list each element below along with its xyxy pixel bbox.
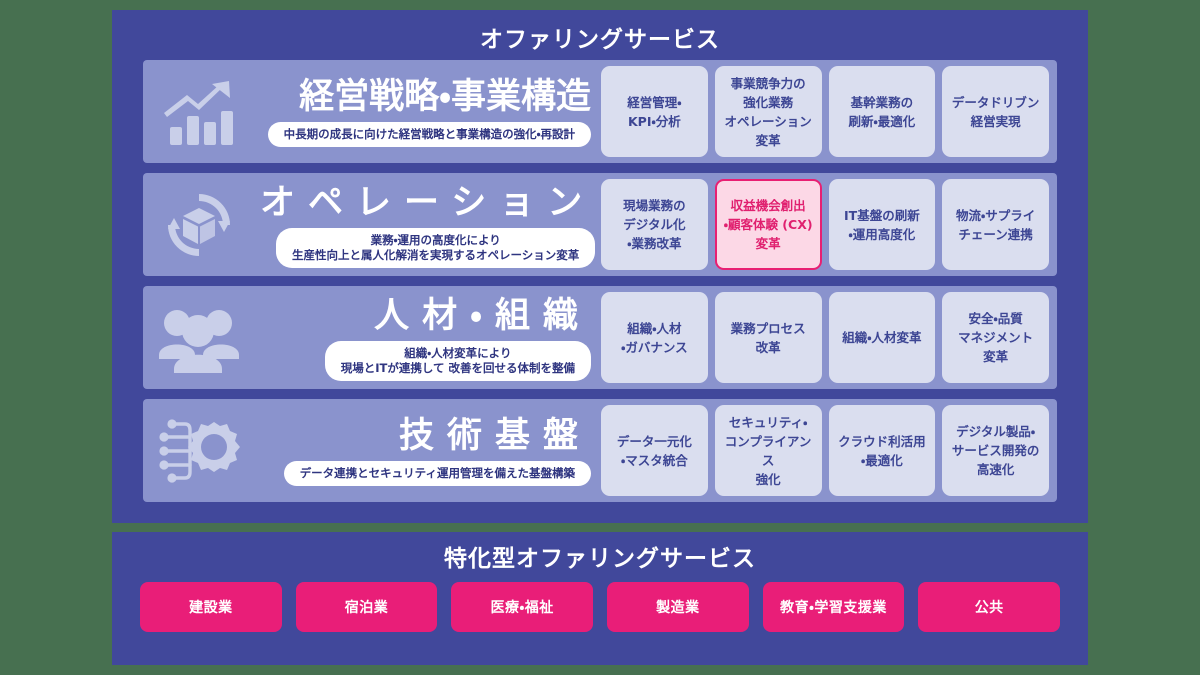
industry-tag[interactable]: 宿泊業 bbox=[296, 582, 438, 632]
offering-card[interactable]: データ一元化 ・マスタ統合 bbox=[601, 405, 708, 496]
offering-row-list: 経営戦略・事業構造 中長期の成長に向けた経営戦略と事業構造の強化・再設計 経営管… bbox=[143, 60, 1057, 502]
row-hero-text: 人材・組織 組織・人材変革により 現場とITが連携して 改善を回せる体制を整備 bbox=[247, 295, 595, 381]
row-card-list: データ一元化 ・マスタ統合 セキュリティ・ コンプライアンス 強化 クラウド利活… bbox=[601, 405, 1049, 496]
industry-tag[interactable]: 教育・学習支援業 bbox=[763, 582, 905, 632]
offering-card[interactable]: デジタル製品・ サービス開発の 高速化 bbox=[942, 405, 1049, 496]
industry-tag[interactable]: 公共 bbox=[918, 582, 1060, 632]
offering-card[interactable]: 安全・品質 マネジメント 変革 bbox=[942, 292, 1049, 383]
growth-chart-icon bbox=[151, 75, 247, 149]
offering-card[interactable]: セキュリティ・ コンプライアンス 強化 bbox=[715, 405, 822, 496]
industry-tag[interactable]: 医療・福祉 bbox=[451, 582, 593, 632]
row-subtitle: データ連携とセキュリティ運用管理を備えた基盤構築 bbox=[284, 461, 591, 486]
row-subtitle: 組織・人材変革により 現場とITが連携して 改善を回せる体制を整備 bbox=[325, 341, 591, 381]
row-hero: 技術基盤 データ連携とセキュリティ運用管理を備えた基盤構築 bbox=[151, 405, 595, 496]
row-card-list: 経営管理・ KPI・分析 事業競争力の 強化業務 オペレーション変革 基幹業務の… bbox=[601, 66, 1049, 157]
page-title: オファリングサービス bbox=[143, 22, 1057, 60]
offering-card[interactable]: 経営管理・ KPI・分析 bbox=[601, 66, 708, 157]
row-hero: 経営戦略・事業構造 中長期の成長に向けた経営戦略と事業構造の強化・再設計 bbox=[151, 66, 595, 157]
offering-card[interactable]: クラウド利活用 ・最適化 bbox=[829, 405, 936, 496]
row-hero-text: 技術基盤 データ連携とセキュリティ運用管理を備えた基盤構築 bbox=[247, 415, 595, 486]
row-title: 人材・組織 bbox=[361, 295, 591, 337]
row-subtitle: 業務・運用の高度化により 生産性向上と属人化解消を実現するオペレーション変革 bbox=[276, 228, 595, 268]
offering-card[interactable]: 現場業務の デジタル化 ・業務改革 bbox=[601, 179, 708, 270]
row-hero: オペレーション 業務・運用の高度化により 生産性向上と属人化解消を実現するオペレ… bbox=[151, 179, 595, 270]
row-title: オペレーション bbox=[247, 182, 595, 224]
offering-row-strategy[interactable]: 経営戦略・事業構造 中長期の成長に向けた経営戦略と事業構造の強化・再設計 経営管… bbox=[143, 60, 1057, 163]
offering-card[interactable]: データドリブン 経営実現 bbox=[942, 66, 1049, 157]
offering-card[interactable]: 基幹業務の 刷新・最適化 bbox=[829, 66, 936, 157]
offering-card-highlighted[interactable]: 収益機会創出 ・顧客体験 (CX) 変革 bbox=[715, 179, 822, 270]
row-hero-text: オペレーション 業務・運用の高度化により 生産性向上と属人化解消を実現するオペレ… bbox=[247, 182, 599, 268]
offering-card[interactable]: 組織・人材 ・ガバナンス bbox=[601, 292, 708, 383]
industry-list: 建設業 宿泊業 医療・福祉 製造業 教育・学習支援業 公共 bbox=[140, 582, 1060, 632]
offering-card[interactable]: 組織・人材変革 bbox=[829, 292, 936, 383]
offering-row-operations[interactable]: オペレーション 業務・運用の高度化により 生産性向上と属人化解消を実現するオペレ… bbox=[143, 173, 1057, 276]
offering-card[interactable]: 物流・サプライ チェーン連携 bbox=[942, 179, 1049, 270]
row-hero: 人材・組織 組織・人材変革により 現場とITが連携して 改善を回せる体制を整備 bbox=[151, 292, 595, 383]
row-title: 技術基盤 bbox=[386, 415, 591, 457]
industry-tag[interactable]: 製造業 bbox=[607, 582, 749, 632]
specialized-panel-title: 特化型オファリングサービス bbox=[140, 542, 1060, 582]
cube-cycle-icon bbox=[151, 188, 247, 262]
offering-card[interactable]: IT基盤の刷新 ・運用高度化 bbox=[829, 179, 936, 270]
offering-card[interactable]: 事業競争力の 強化業務 オペレーション変革 bbox=[715, 66, 822, 157]
row-card-list: 現場業務の デジタル化 ・業務改革 収益機会創出 ・顧客体験 (CX) 変革 I… bbox=[601, 179, 1049, 270]
offering-services-panel: オファリングサービス bbox=[112, 10, 1088, 523]
circuit-gear-icon bbox=[151, 414, 247, 488]
industry-tag[interactable]: 建設業 bbox=[140, 582, 282, 632]
row-hero-text: 経営戦略・事業構造 中長期の成長に向けた経営戦略と事業構造の強化・再設計 bbox=[247, 76, 595, 147]
row-subtitle: 中長期の成長に向けた経営戦略と事業構造の強化・再設計 bbox=[268, 122, 591, 147]
offering-card[interactable]: 業務プロセス 改革 bbox=[715, 292, 822, 383]
row-card-list: 組織・人材 ・ガバナンス 業務プロセス 改革 組織・人材変革 安全・品質 マネジ… bbox=[601, 292, 1049, 383]
offering-row-people[interactable]: 人材・組織 組織・人材変革により 現場とITが連携して 改善を回せる体制を整備 … bbox=[143, 286, 1057, 389]
offering-row-technology[interactable]: 技術基盤 データ連携とセキュリティ運用管理を備えた基盤構築 データ一元化 ・マス… bbox=[143, 399, 1057, 502]
specialized-offering-panel: 特化型オファリングサービス 建設業 宿泊業 医療・福祉 製造業 教育・学習支援業… bbox=[112, 532, 1088, 665]
people-group-icon bbox=[151, 303, 247, 373]
row-title: 経営戦略・事業構造 bbox=[299, 76, 591, 118]
offering-service-infographic: オファリングサービス bbox=[0, 0, 1200, 675]
